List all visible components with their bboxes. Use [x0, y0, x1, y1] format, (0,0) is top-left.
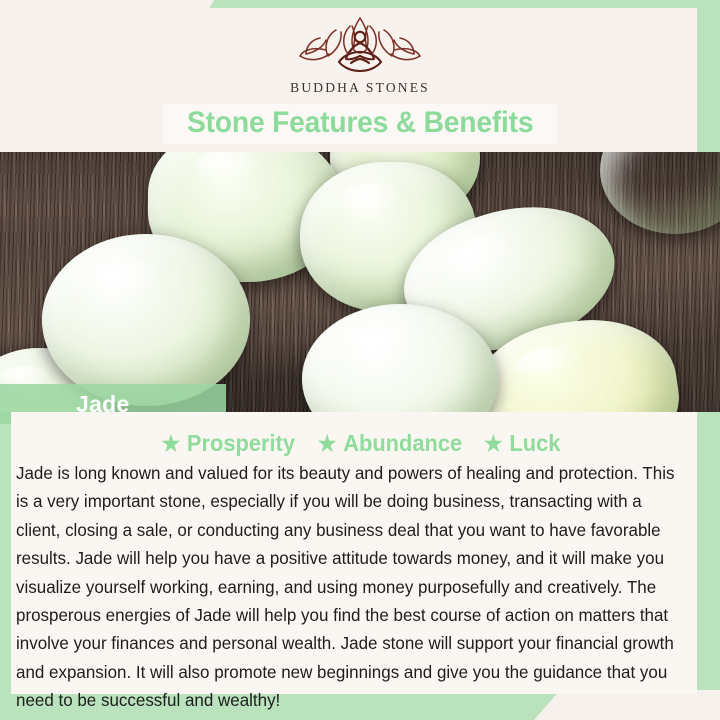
star-icon: ★ [484, 433, 503, 455]
lotus-meditation-logo-icon [296, 16, 424, 76]
keyword-abundance: ★ Abundance [318, 430, 462, 457]
stone-photo [0, 152, 720, 412]
jade-stone [42, 234, 250, 406]
keyword-luck: ★ Luck [484, 430, 560, 457]
brand-logo: BUDDHA STONES [0, 16, 720, 96]
keyword-prosperity: ★ Prosperity [161, 430, 294, 457]
keyword-label: Luck [509, 430, 560, 457]
keyword-row: ★ Prosperity ★ Abundance ★ Luck [0, 430, 720, 457]
headline-band: Stone Features & Benefits [0, 104, 720, 144]
star-icon: ★ [161, 433, 180, 455]
description-text: Jade is long known and valued for its be… [16, 459, 682, 715]
brand-name: BUDDHA STONES [290, 80, 430, 96]
star-icon: ★ [318, 433, 337, 455]
page-title: Stone Features & Benefits [162, 104, 557, 144]
keyword-label: Prosperity [186, 430, 294, 457]
stone-benefits-poster: BUDDHA STONES Stone Features & Benefits … [0, 0, 720, 720]
decorative-band-left [0, 412, 11, 720]
keyword-label: Abundance [343, 430, 462, 457]
